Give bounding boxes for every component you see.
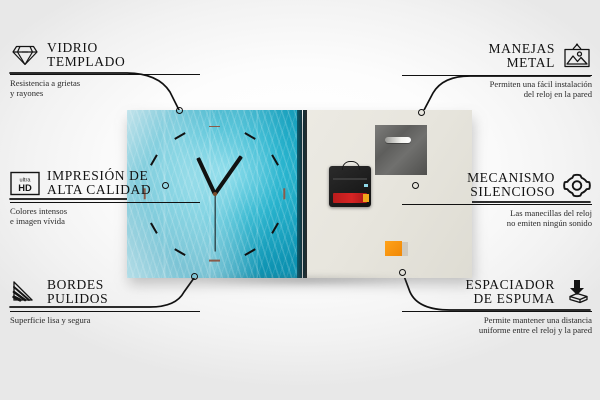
feature-silent-mechanism: MECANISMO SILENCIOSO Las manecillas del … xyxy=(402,170,592,228)
hour-tick xyxy=(209,260,220,262)
callout-dot-hangers[interactable] xyxy=(418,109,425,116)
wall-hanging-icon xyxy=(562,41,592,71)
feature-foam-spacer: ESPACIADOR DE ESPUMA Permite mantener un… xyxy=(402,277,592,335)
hour-tick xyxy=(209,126,220,128)
feature-title: BORDES PULIDOS xyxy=(47,278,108,305)
ultra-hd-icon: ultra HD xyxy=(10,168,40,198)
feature-title: IMPRESIÓN DE ALTA CALIDAD xyxy=(47,169,151,196)
feature-description: Permiten una fácil instalación del reloj… xyxy=(402,79,592,100)
feature-tempered-glass: VIDRIO TEMPLADO Resistencia a grietas y … xyxy=(10,40,200,98)
feature-title: VIDRIO TEMPLADO xyxy=(47,41,125,68)
feature-hd-print: ultra HD IMPRESIÓN DE ALTA CALIDAD Color… xyxy=(10,168,200,226)
feature-metal-hangers: MANEJAS METAL Permiten una fácil instala… xyxy=(402,41,592,99)
clock-mechanism xyxy=(329,166,371,207)
callout-dot-glass[interactable] xyxy=(176,107,183,114)
foam-spacer-side xyxy=(402,242,408,256)
svg-text:HD: HD xyxy=(18,182,32,193)
clock-right-edge xyxy=(297,110,302,278)
feature-description: Las manecillas del reloj no emiten ningú… xyxy=(402,208,592,229)
feature-description: Colores intensos e imagen vívida xyxy=(10,206,200,227)
mechanism-indicator xyxy=(364,184,368,187)
polished-edges-icon xyxy=(10,277,40,307)
battery-terminal xyxy=(363,194,369,202)
divider xyxy=(10,311,200,312)
feature-polished-edges: BORDES PULIDOS Superficie lisa y segura xyxy=(10,277,200,325)
callout-dot-spacer[interactable] xyxy=(399,269,406,276)
divider xyxy=(402,75,592,76)
infographic-canvas: VIDRIO TEMPLADO Resistencia a grietas y … xyxy=(0,0,600,400)
mechanism-seam xyxy=(333,178,367,180)
divider xyxy=(402,311,592,312)
divider xyxy=(402,204,592,205)
feature-description: Permite mantener una distancia uniforme … xyxy=(402,315,592,336)
feature-title: ESPACIADOR DE ESPUMA xyxy=(465,278,555,305)
hour-tick xyxy=(284,188,286,199)
second-hand xyxy=(214,194,215,252)
metal-hanger-plate xyxy=(375,125,427,175)
feature-description: Resistencia a grietas y rayones xyxy=(10,78,200,99)
divider xyxy=(10,74,200,75)
diamond-icon xyxy=(10,40,40,70)
mechanism-loop xyxy=(342,161,360,170)
hanger-slot xyxy=(385,137,411,143)
feature-title: MANEJAS METAL xyxy=(489,42,555,69)
feature-title: MECANISMO SILENCIOSO xyxy=(467,171,555,198)
battery xyxy=(333,193,367,203)
feature-description: Superficie lisa y segura xyxy=(10,315,200,325)
gear-icon xyxy=(562,170,592,200)
panel-edge xyxy=(303,110,307,278)
foam-spacer-icon xyxy=(562,277,592,307)
clock-center-pin xyxy=(213,192,217,196)
divider xyxy=(10,202,200,203)
foam-spacer-pad xyxy=(385,241,402,256)
